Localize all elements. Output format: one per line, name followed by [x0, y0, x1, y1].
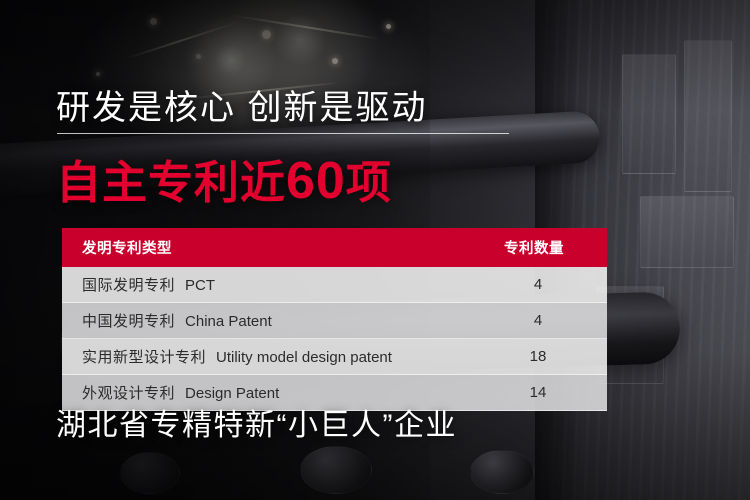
subheadline-suffix: 项	[346, 157, 392, 208]
cell-type-cn: 实用新型设计专利	[82, 349, 206, 366]
cell-type: 中国发明专利China Patent	[62, 303, 469, 339]
cell-type-cn: 中国发明专利	[82, 313, 175, 330]
cell-type: 实用新型设计专利Utility model design patent	[62, 339, 469, 375]
table-header-row: 发明专利类型 专利数量	[62, 228, 607, 267]
subheadline-prefix: 自主专利近	[56, 157, 286, 208]
cell-type-cn: 国际发明专利	[82, 277, 175, 294]
patent-table-head: 发明专利类型 专利数量	[62, 228, 607, 267]
subheadline-number: 60	[286, 152, 346, 210]
patent-table-body: 国际发明专利PCT 4 中国发明专利China Patent 4 实用新型设计专…	[62, 267, 607, 411]
column-header-type: 发明专利类型	[62, 228, 469, 267]
cell-count: 18	[469, 339, 607, 375]
cell-type-en: PCT	[185, 277, 215, 294]
cell-type-en: Utility model design patent	[216, 349, 392, 366]
column-header-count: 专利数量	[469, 228, 607, 267]
headline: 研发是核心 创新是驱动	[56, 80, 427, 129]
subheadline: 自主专利近60项	[56, 146, 392, 211]
cell-count: 4	[469, 267, 607, 303]
cell-type: 国际发明专利PCT	[62, 267, 469, 303]
table-row: 国际发明专利PCT 4	[62, 267, 607, 303]
cell-type-en: China Patent	[185, 313, 272, 330]
headline-divider	[57, 133, 509, 134]
patent-table: 发明专利类型 专利数量 国际发明专利PCT 4 中国发明专利China Pate…	[62, 228, 607, 411]
cell-count: 4	[469, 303, 607, 339]
table-row: 实用新型设计专利Utility model design patent 18	[62, 339, 607, 375]
cell-count: 14	[469, 375, 607, 411]
footer-text: 湖北省专精特新“小巨人”企业	[56, 400, 457, 444]
poster-root: 研发是核心 创新是驱动 自主专利近60项 发明专利类型 专利数量 国际发明专利P…	[0, 0, 750, 500]
table-row: 中国发明专利China Patent 4	[62, 303, 607, 339]
